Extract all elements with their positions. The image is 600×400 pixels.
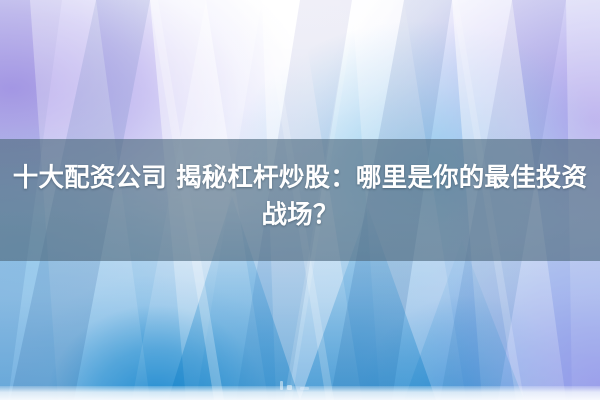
watermark-mark-1 bbox=[280, 381, 283, 390]
promo-banner: 十大配资公司 揭秘杠杆炒股：哪里是你的最佳投资战场？ bbox=[0, 0, 600, 400]
caption-text-container: 十大配资公司 揭秘杠杆炒股：哪里是你的最佳投资战场？ bbox=[0, 139, 600, 261]
bottom-watermark-marks bbox=[278, 378, 326, 390]
watermark-mark-2 bbox=[287, 385, 292, 390]
banner-headline: 十大配资公司 揭秘杠杆炒股：哪里是你的最佳投资战场？ bbox=[12, 160, 588, 234]
watermark-mark-3 bbox=[300, 387, 309, 390]
